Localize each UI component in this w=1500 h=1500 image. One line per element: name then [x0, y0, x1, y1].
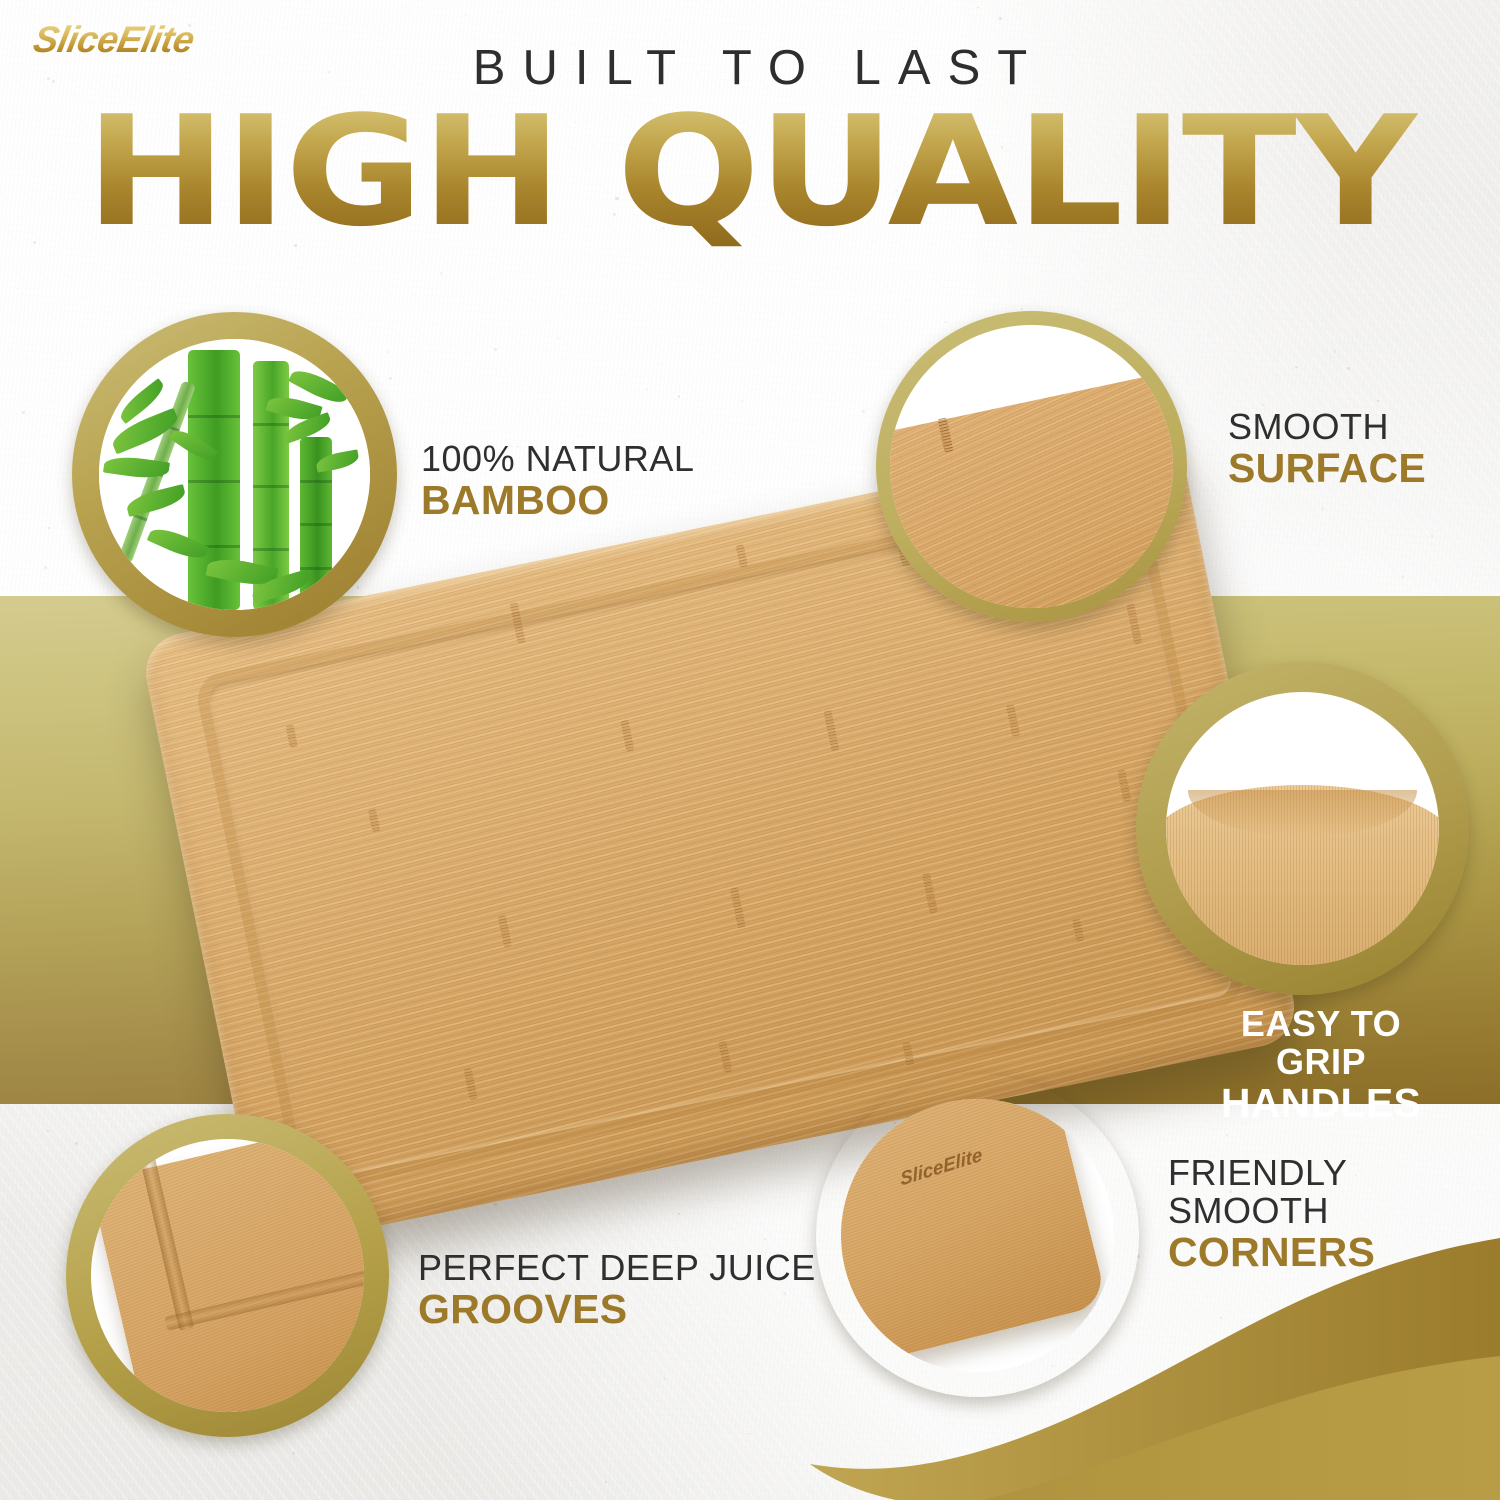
- callout-image-bamboo: [99, 339, 370, 610]
- infographic-canvas: SliceElite BUILT TO LAST HIGH QUALITY: [0, 0, 1500, 1500]
- board-corner-icon: SliceElite: [841, 1099, 1108, 1372]
- feature-line2: BAMBOO: [421, 478, 694, 522]
- feature-line1: EASY TO GRIP: [1196, 1005, 1446, 1081]
- callout-surface: [876, 311, 1187, 622]
- board-engraving: SliceElite: [899, 1145, 983, 1192]
- feature-line2: SURFACE: [1228, 446, 1426, 490]
- feature-label-grip: EASY TO GRIP HANDLES: [1196, 1005, 1446, 1126]
- feature-line2: CORNERS: [1168, 1230, 1500, 1274]
- callout-corners: SliceElite: [816, 1074, 1139, 1397]
- feature-label-surface: SMOOTH SURFACE: [1228, 408, 1426, 490]
- groove-channel-horizontal: [164, 1261, 364, 1331]
- callout-image-surface: [890, 325, 1173, 608]
- board-surface-closeup-icon: [890, 366, 1173, 608]
- callout-image-grip: [1166, 692, 1439, 965]
- feature-line1: SMOOTH: [1228, 408, 1426, 446]
- callout-image-grooves: [91, 1139, 364, 1412]
- feature-label-corners: FRIENDLY SMOOTH CORNERS: [1168, 1154, 1500, 1275]
- page-title: HIGH QUALITY: [0, 96, 1500, 248]
- juice-groove-icon: [91, 1139, 364, 1412]
- feature-label-bamboo: 100% NATURAL BAMBOO: [421, 440, 694, 522]
- callout-grooves: [66, 1114, 389, 1437]
- feature-line1: FRIENDLY SMOOTH: [1168, 1154, 1500, 1230]
- callout-grip: [1136, 662, 1469, 995]
- feature-line2: GROOVES: [418, 1287, 816, 1331]
- bamboo-stalks-icon: [99, 339, 370, 610]
- feature-line1: 100% NATURAL: [421, 440, 694, 478]
- feature-line2: HANDLES: [1196, 1081, 1446, 1125]
- feature-label-grooves: PERFECT DEEP JUICE GROOVES: [418, 1249, 816, 1331]
- callout-bamboo: [72, 312, 397, 637]
- feature-line1: PERFECT DEEP JUICE: [418, 1249, 816, 1287]
- groove-channel-vertical: [140, 1155, 195, 1332]
- callout-image-corners: SliceElite: [841, 1099, 1114, 1372]
